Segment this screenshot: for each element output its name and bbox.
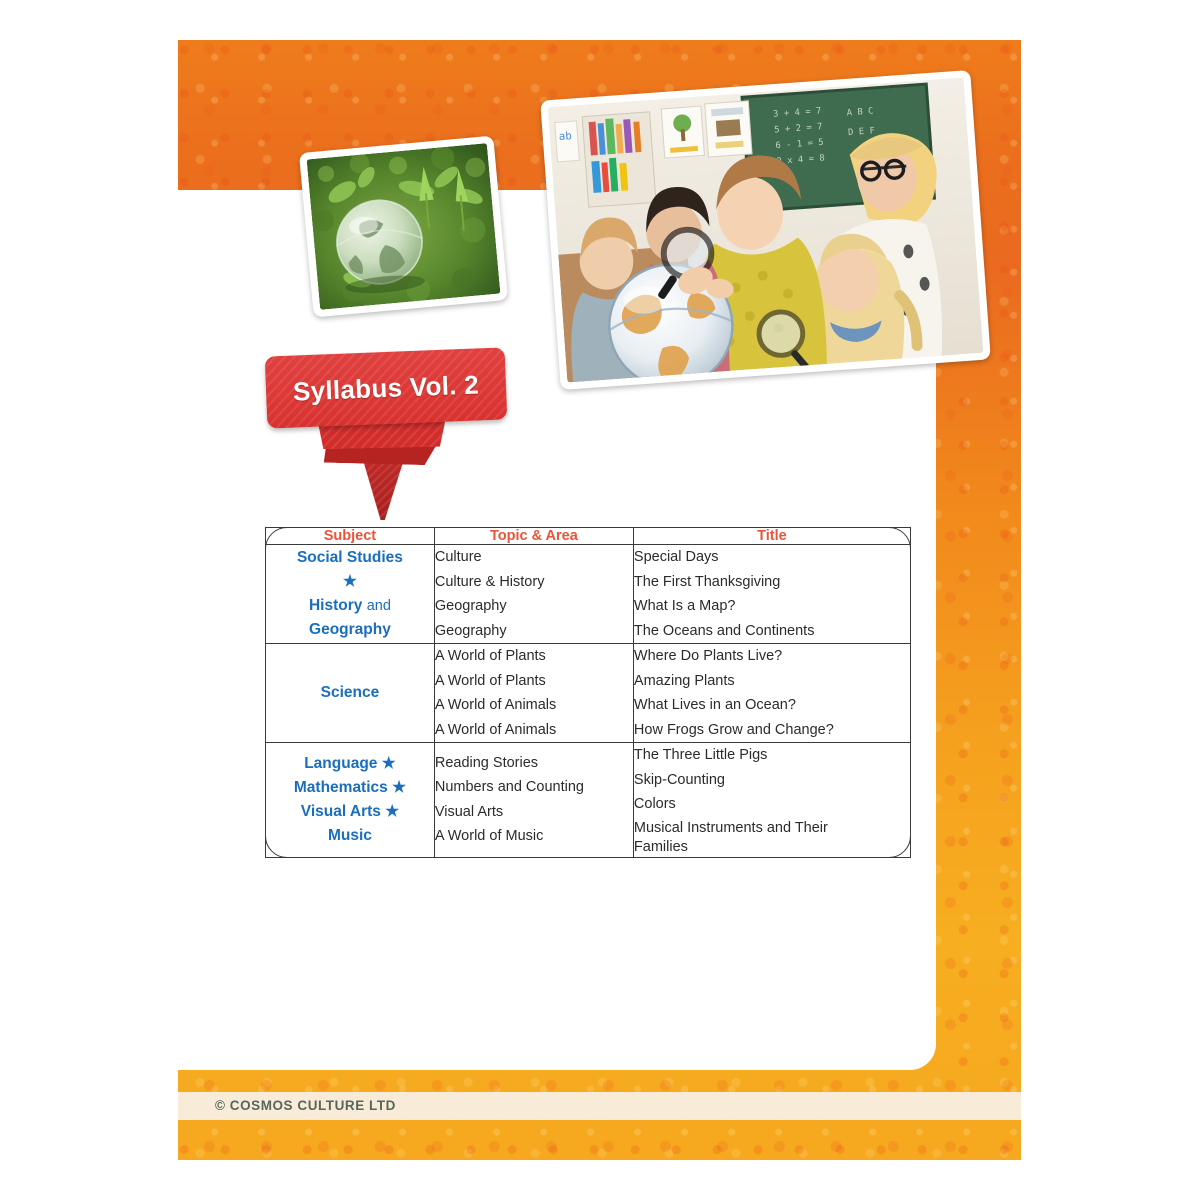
- cell-title: Where Do Plants Live? Amazing Plants Wha…: [633, 644, 910, 743]
- topic-item: A World of Music: [435, 824, 633, 849]
- cell-title: The Three Little Pigs Skip-Counting Colo…: [633, 743, 910, 858]
- title-item: Colors: [634, 792, 910, 817]
- table-header-row: Subject Topic & Area Title: [266, 528, 911, 545]
- subject-line: Mathematics ★: [266, 776, 434, 800]
- svg-text:ab: ab: [558, 129, 572, 143]
- subject-line: Science: [266, 681, 434, 705]
- table-row: Science A World of Plants A World of Pla…: [266, 644, 911, 743]
- svg-text:D E F: D E F: [848, 126, 876, 138]
- title-item: Musical Instruments and Their Families: [634, 817, 850, 857]
- title-item: Special Days: [634, 545, 910, 570]
- topic-item: A World of Plants: [435, 669, 633, 694]
- title-item: The Three Little Pigs: [634, 743, 910, 768]
- subject-star: ★: [266, 570, 434, 594]
- column-header-topic-area: Topic & Area: [434, 528, 633, 545]
- cell-topic-area: Culture Culture & History Geography Geog…: [434, 545, 633, 644]
- title-item: Amazing Plants: [634, 669, 910, 694]
- cell-topic-area: A World of Plants A World of Plants A Wo…: [434, 644, 633, 743]
- svg-text:A B C: A B C: [846, 107, 874, 119]
- footer-copyright: © COSMOS CULTURE LTD: [215, 1098, 396, 1113]
- topic-item: A World of Animals: [435, 693, 633, 718]
- topic-item: A World of Animals: [435, 718, 633, 743]
- title-item: What Is a Map?: [634, 594, 910, 619]
- cell-subject: Science: [266, 644, 435, 743]
- topic-item: Visual Arts: [435, 800, 633, 825]
- title-item: The First Thanksgiving: [634, 570, 910, 595]
- subject-line: Visual Arts ★: [266, 800, 434, 824]
- classroom-illustration: 3 + 4 = 75 + 2 = 7 6 - 1 = 52 x 4 = 8 A …: [548, 77, 984, 382]
- glass-globe-illustration: [307, 143, 501, 310]
- cell-subject: Language ★ Mathematics ★ Visual Arts ★ M…: [266, 743, 435, 858]
- cell-topic-area: Reading Stories Numbers and Counting Vis…: [434, 743, 633, 858]
- page-canvas: 3 + 4 = 75 + 2 = 7 6 - 1 = 52 x 4 = 8 A …: [178, 40, 1021, 1160]
- table-row: Social Studies ★ History and Geography C…: [266, 545, 911, 644]
- subject-line-text: History and: [309, 597, 391, 614]
- subject-line: Social Studies: [266, 546, 434, 570]
- title-item: Where Do Plants Live?: [634, 644, 910, 669]
- subject-line: Language ★: [266, 752, 434, 776]
- table-row: Language ★ Mathematics ★ Visual Arts ★ M…: [266, 743, 911, 858]
- subject-line: Music: [266, 824, 434, 848]
- title-item: Skip-Counting: [634, 768, 910, 793]
- syllabus-table: Subject Topic & Area Title Social Studie…: [265, 527, 911, 858]
- column-header-subject: Subject: [266, 528, 435, 545]
- topic-item: Culture & History: [435, 570, 633, 595]
- syllabus-ribbon: Syllabus Vol. 2: [266, 352, 516, 507]
- subject-line: History and: [266, 594, 434, 618]
- photo-classroom-children-globe: 3 + 4 = 75 + 2 = 7 6 - 1 = 52 x 4 = 8 A …: [540, 70, 991, 390]
- cell-subject: Social Studies ★ History and Geography: [266, 545, 435, 644]
- topic-item: Reading Stories: [435, 751, 633, 776]
- ribbon-title: Syllabus Vol. 2: [265, 347, 508, 428]
- topic-item: Numbers and Counting: [435, 775, 633, 800]
- title-item: The Oceans and Continents: [634, 619, 910, 644]
- title-item: What Lives in an Ocean?: [634, 693, 910, 718]
- topic-item: Geography: [435, 594, 633, 619]
- column-header-title: Title: [633, 528, 910, 545]
- topic-item: Geography: [435, 619, 633, 644]
- cell-title: Special Days The First Thanksgiving What…: [633, 545, 910, 644]
- subject-line-conjunction: and: [367, 598, 391, 614]
- topic-item: Culture: [435, 545, 633, 570]
- subject-line: Geography: [266, 618, 434, 642]
- title-item: How Frogs Grow and Change?: [634, 718, 910, 743]
- topic-item: A World of Plants: [435, 644, 633, 669]
- photo-glass-globe: [299, 136, 508, 318]
